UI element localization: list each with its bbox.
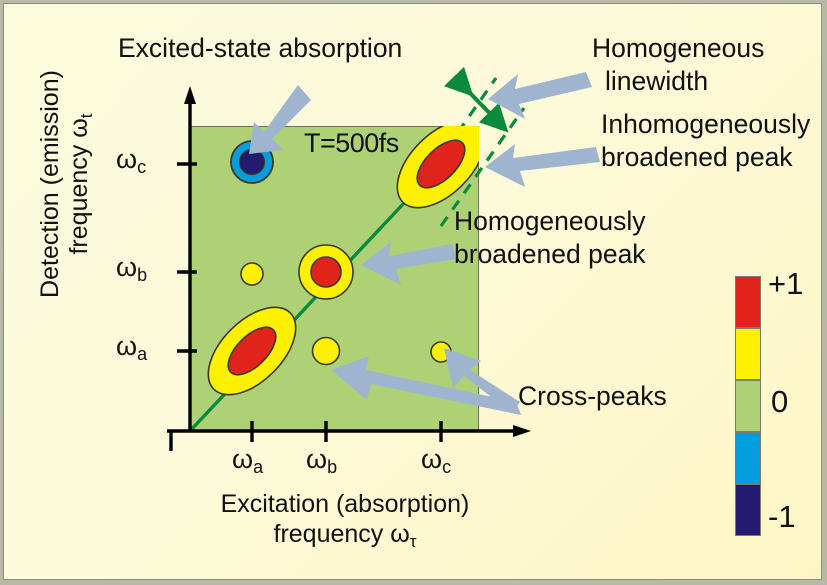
colorbar-label-min: -1 — [768, 499, 796, 535]
xtick-label-wc: ωc — [421, 444, 451, 478]
arrow-inhomogeneous-peak — [485, 144, 600, 187]
xtick-wc-subscript: c — [442, 457, 451, 477]
arrow-excited-state-absorption — [249, 85, 311, 154]
y-axis-title-subscript: t — [77, 114, 96, 119]
y-axis-title-symbol: ω — [65, 118, 93, 138]
label-waiting-time: T=500fs — [304, 128, 399, 159]
ytick-wc-symbol: ω — [116, 144, 137, 174]
x-axis-title-subscript: τ — [410, 532, 417, 551]
x-axis-title-symbol: ω — [390, 520, 410, 548]
xtick-label-wa: ωa — [232, 444, 263, 478]
label-cross-peaks: Cross-peaks — [518, 382, 667, 411]
xtick-wa-subscript: a — [253, 457, 263, 477]
ytick-wc-subscript: c — [137, 157, 146, 177]
figure-panel: Excited-state absorption Homogeneous lin… — [3, 3, 822, 580]
colorbar-label-zero: 0 — [771, 384, 788, 420]
arrow-homogeneous-linewidth — [488, 72, 592, 119]
ytick-wb-subscript: b — [137, 265, 147, 285]
ytick-label-wb: ωb — [116, 252, 147, 286]
label-homogeneous-peak-l2: broadened peak — [454, 240, 646, 269]
diagonal-peak-a — [193, 292, 312, 411]
y-axis-title: Detection (emission) frequency ωt — [36, 34, 96, 334]
xtick-wa-symbol: ω — [232, 444, 253, 474]
arrow-homogeneous-peak — [361, 242, 456, 285]
colorbar-label-max: +1 — [768, 266, 803, 302]
x-axis-title-line2: frequency — [274, 520, 384, 548]
y-axis-title-line2: frequency — [65, 145, 93, 255]
label-homogeneous-peak-l1: Homogeneously — [454, 207, 646, 236]
colorbar-band-navy — [735, 484, 761, 536]
label-inhomogeneous-peak-l1: Inhomogeneously — [601, 110, 810, 139]
ytick-label-wc: ωc — [116, 144, 146, 178]
colorbar-band-red — [735, 276, 761, 328]
cross-peak-ab — [241, 263, 263, 285]
label-homogeneous-linewidth-l1: Homogeneous — [592, 34, 764, 63]
x-axis-title-line1: Excitation (absorption) — [221, 490, 470, 518]
label-homogeneous-linewidth-l2: linewidth — [605, 67, 708, 96]
xtick-wb-symbol: ω — [306, 444, 327, 474]
xtick-label-wb: ωb — [306, 444, 337, 478]
label-inhomogeneous-peak-l2: broadened peak — [601, 143, 793, 172]
colorbar-band-blue — [735, 432, 761, 484]
x-axis-title: Excitation (absorption) frequency ωτ — [150, 489, 540, 557]
colorbar-band-lightgreen — [735, 380, 761, 432]
y-axis-title-line1: Detection (emission) — [36, 70, 64, 298]
label-excited-state-absorption: Excited-state absorption — [118, 34, 402, 63]
ytick-wa-symbol: ω — [116, 331, 137, 361]
ytick-label-wa: ωa — [116, 331, 147, 365]
cross-peak-ba — [313, 338, 340, 365]
ytick-wa-subscript: a — [137, 344, 147, 364]
colorbar-band-yellow — [735, 328, 761, 380]
xtick-wc-symbol: ω — [421, 444, 442, 474]
xtick-wb-subscript: b — [327, 457, 337, 477]
ytick-wb-symbol: ω — [116, 252, 137, 282]
diagonal-peak-b — [299, 245, 353, 299]
